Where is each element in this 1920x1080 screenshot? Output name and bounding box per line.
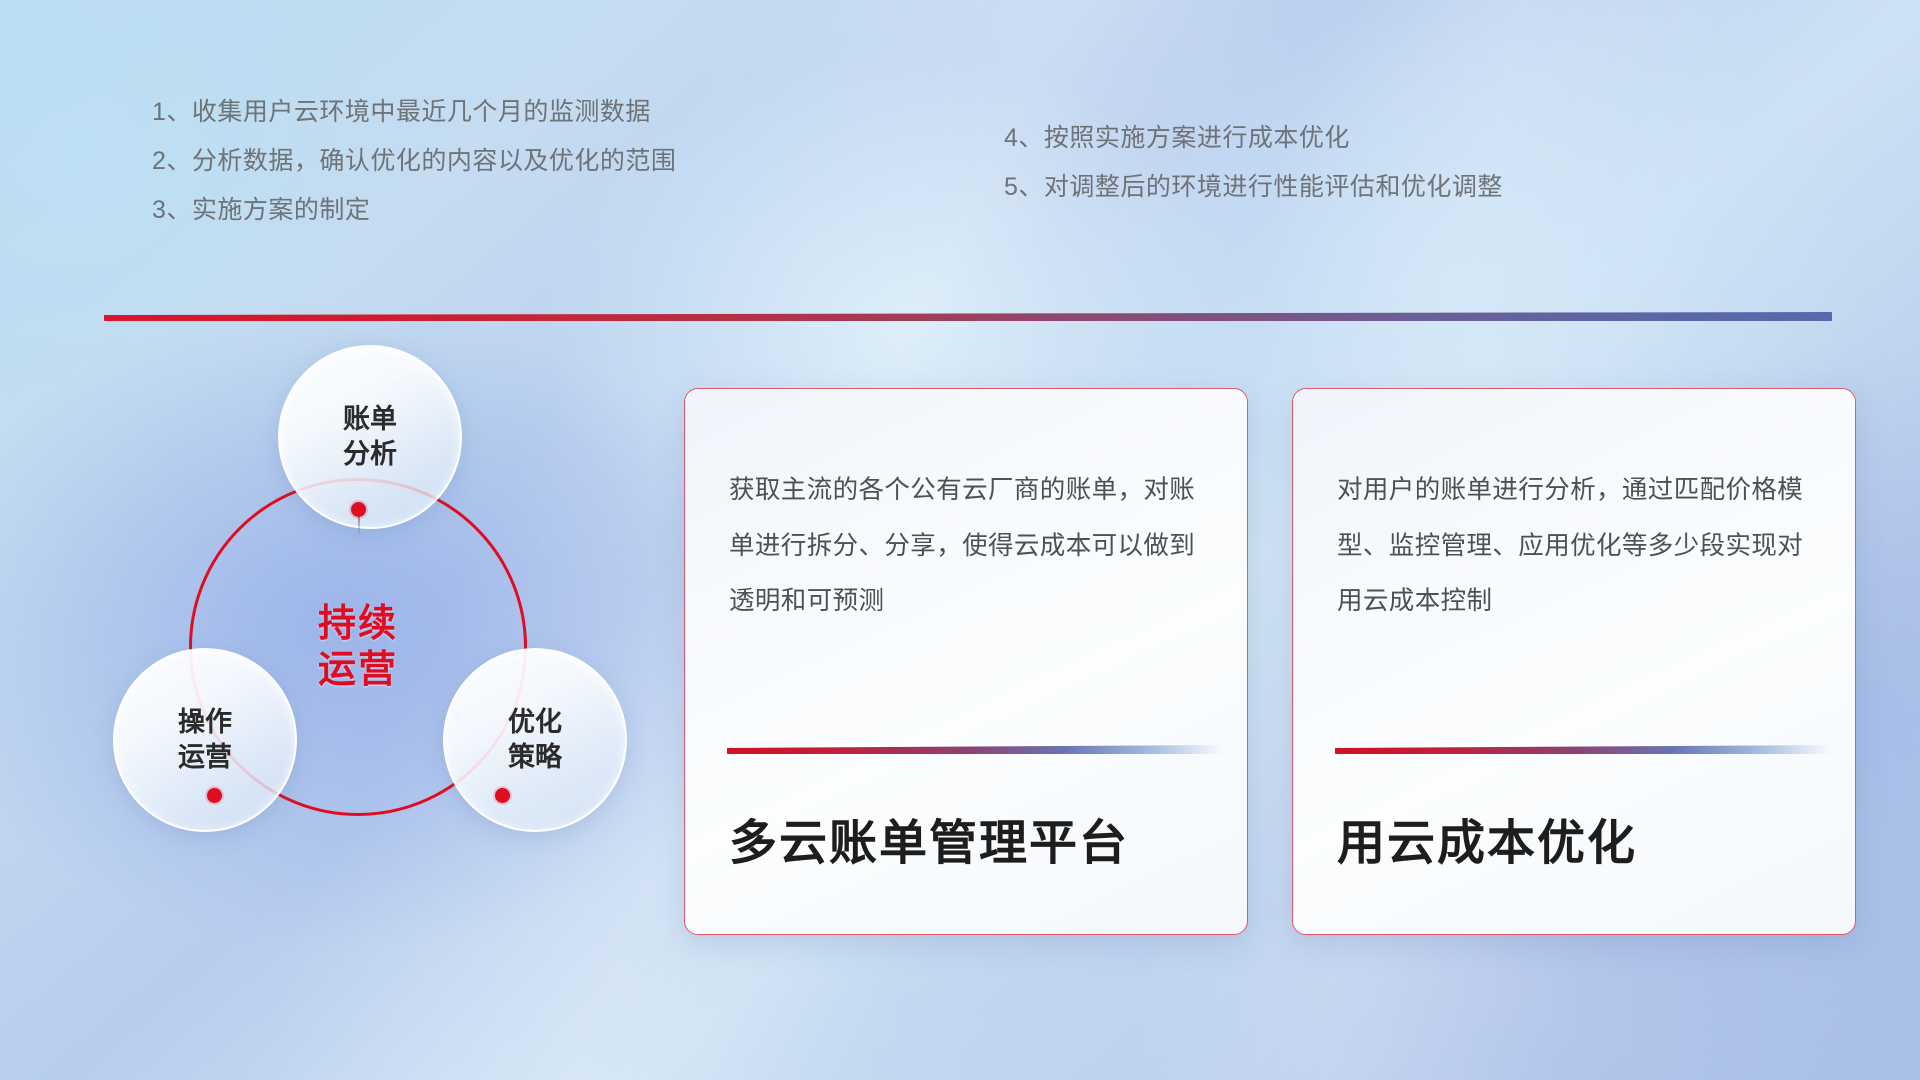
bubble-left-line1: 操作 (178, 705, 232, 740)
process-steps-right: 4、按照实施方案进行成本优化 5、对调整后的环境进行性能评估和优化调整 (1004, 126, 1503, 224)
process-steps-left: 1、收集用户云环境中最近几个月的监测数据 2、分析数据，确认优化的内容以及优化的… (152, 100, 676, 247)
node-dot-left (207, 788, 222, 803)
bubble-optimization-strategy[interactable]: 优化 策略 (443, 648, 627, 832)
venn-diagram: 持续 运营 账单 分析 操作 运营 优化 策略 (95, 345, 655, 945)
process-step-2: 2、分析数据，确认优化的内容以及优化的范围 (152, 149, 676, 174)
bubble-top-line2: 分析 (343, 437, 397, 472)
bubble-right-line1: 优化 (508, 705, 562, 740)
bubble-operations[interactable]: 操作 运营 (113, 648, 297, 832)
process-step-1: 1、收集用户云环境中最近几个月的监测数据 (152, 100, 676, 125)
card-2-body: 对用户的账单进行分析，通过匹配价格模型、监控管理、应用优化等多少段实现对用云成本… (1337, 463, 1825, 630)
process-step-4: 4、按照实施方案进行成本优化 (1004, 126, 1503, 151)
card-1-rule (727, 745, 1223, 754)
card-1-body: 获取主流的各个公有云厂商的账单，对账单进行拆分、分享，使得云成本可以做到透明和可… (729, 463, 1217, 630)
card-1-title: 多云账单管理平台 (729, 803, 1129, 873)
node-dot-right (495, 788, 510, 803)
process-step-5: 5、对调整后的环境进行性能评估和优化调整 (1004, 175, 1503, 200)
bubble-bill-analysis[interactable]: 账单 分析 (278, 345, 462, 529)
bubble-right-line2: 策略 (508, 740, 562, 775)
bubble-top-line1: 账单 (343, 402, 397, 437)
bubble-left-line2: 运营 (178, 740, 232, 775)
section-divider (104, 312, 1832, 321)
card-multicloud-billing[interactable]: 获取主流的各个公有云厂商的账单，对账单进行拆分、分享，使得云成本可以做到透明和可… (684, 388, 1248, 935)
card-2-rule (1335, 745, 1831, 754)
slide-canvas: 1、收集用户云环境中最近几个月的监测数据 2、分析数据，确认优化的内容以及优化的… (0, 0, 1920, 1080)
card-cloud-cost-optimization[interactable]: 对用户的账单进行分析，通过匹配价格模型、监控管理、应用优化等多少段实现对用云成本… (1292, 388, 1856, 935)
center-label-line1: 持续 (318, 601, 398, 647)
process-step-3: 3、实施方案的制定 (152, 198, 676, 223)
card-2-title: 用云成本优化 (1337, 803, 1637, 873)
center-label-line2: 运营 (318, 647, 398, 693)
connector-tail-top (358, 516, 360, 536)
node-dot-top (351, 502, 366, 517)
